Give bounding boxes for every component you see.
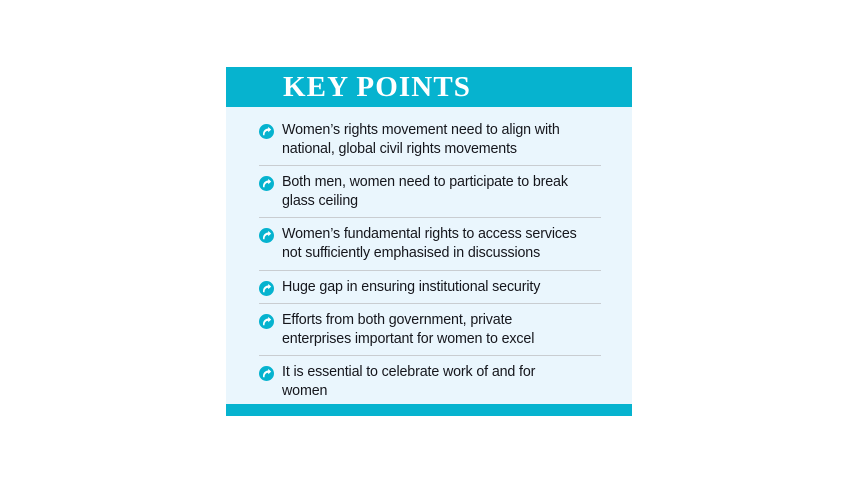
list-item: Women’s fundamental rights to access ser… xyxy=(259,218,601,270)
list-item-text: Both men, women need to participate to b… xyxy=(282,173,582,210)
list-item-text: It is essential to celebrate work of and… xyxy=(282,363,582,400)
key-points-card: KEY POINTS Women’s rights movement need … xyxy=(226,67,632,416)
list-item: Women’s rights movement need to align wi… xyxy=(259,114,601,166)
arrow-circle-icon xyxy=(259,366,274,381)
arrow-circle-icon xyxy=(259,124,274,139)
card-header: KEY POINTS xyxy=(226,67,632,107)
page-title: KEY POINTS xyxy=(283,73,471,102)
list-item: It is essential to celebrate work of and… xyxy=(259,356,601,407)
arrow-circle-icon xyxy=(259,314,274,329)
list-item: Huge gap in ensuring institutional secur… xyxy=(259,271,601,305)
list-item-text: Huge gap in ensuring institutional secur… xyxy=(282,278,582,297)
list-item-text: Women’s fundamental rights to access ser… xyxy=(282,225,582,262)
arrow-circle-icon xyxy=(259,281,274,296)
list-item: Efforts from both government, private en… xyxy=(259,304,601,356)
list-item-text: Efforts from both government, private en… xyxy=(282,311,582,348)
card-footer-bar xyxy=(226,404,632,416)
arrow-circle-icon xyxy=(259,228,274,243)
list-item: Both men, women need to participate to b… xyxy=(259,166,601,218)
key-points-list: Women’s rights movement need to align wi… xyxy=(226,107,632,416)
list-item-text: Women’s rights movement need to align wi… xyxy=(282,121,582,158)
arrow-circle-icon xyxy=(259,176,274,191)
